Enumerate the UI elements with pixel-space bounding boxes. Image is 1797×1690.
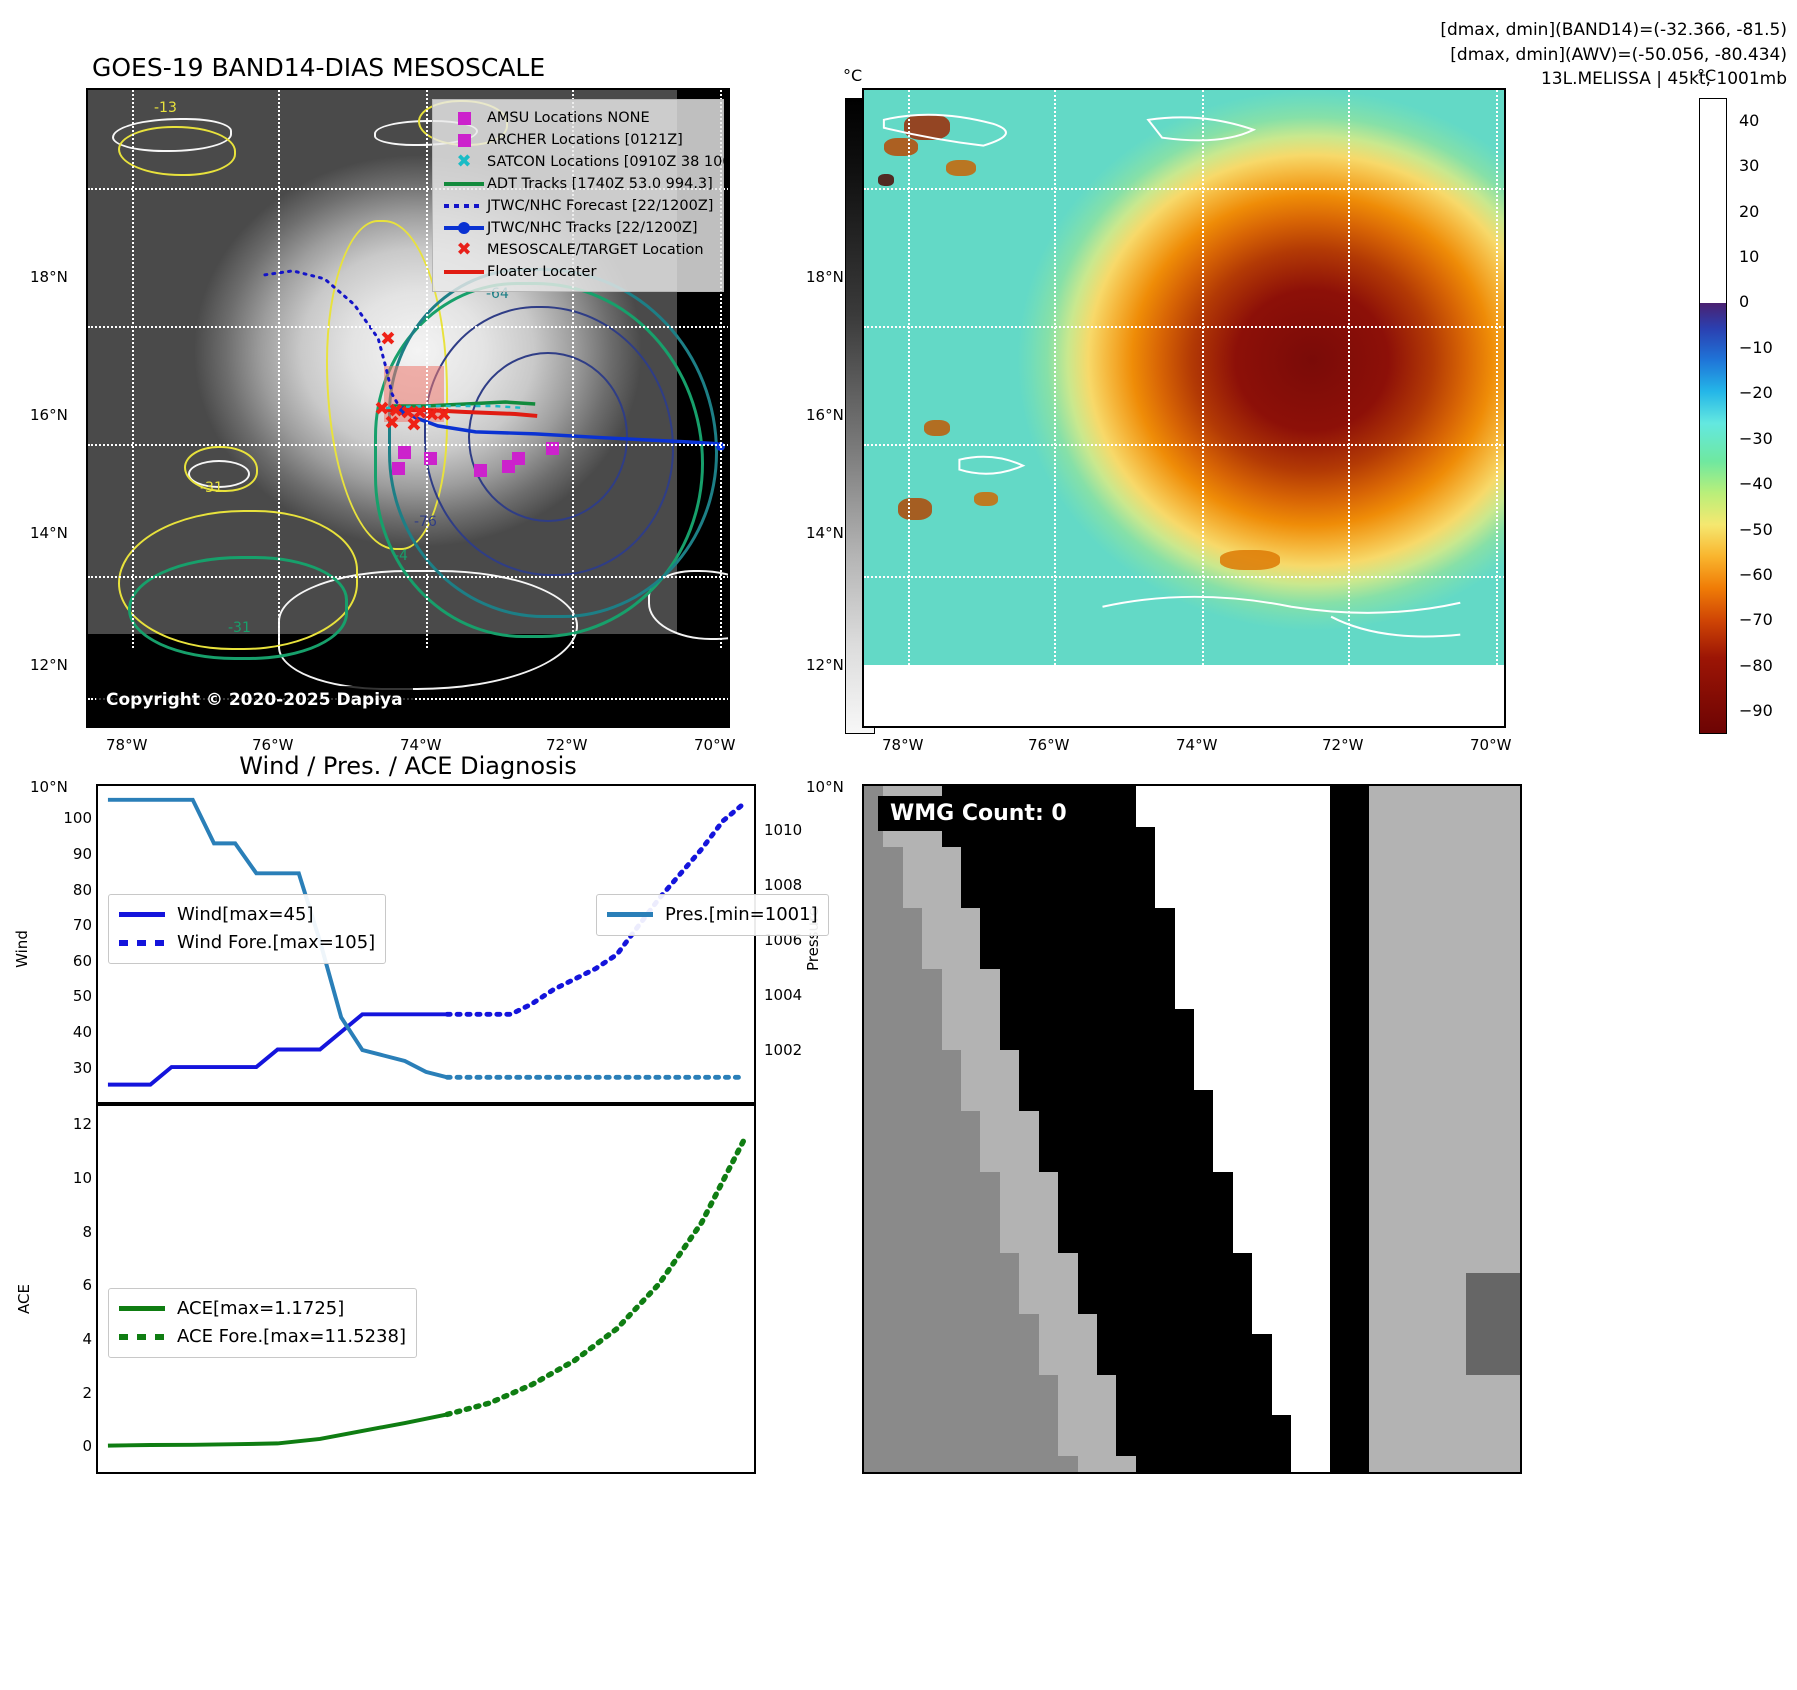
wmg-cell (1485, 1293, 1505, 1314)
wmg-cell (1330, 1253, 1350, 1274)
wmg-cell (1019, 1415, 1039, 1436)
legend-item-mesoscale[interactable]: ✖ MESOSCALE/TARGET Location (441, 239, 715, 261)
wmg-cell (903, 928, 923, 949)
wmg-cell (1466, 1030, 1486, 1051)
wmg-cell (1427, 1293, 1447, 1314)
wmg-cell (1019, 1212, 1039, 1233)
eir-lon-tick-70w: 70°W (1470, 736, 1511, 754)
wmg-cell (883, 1172, 903, 1193)
wmg-cell (1272, 1111, 1292, 1132)
wmg-cell (1233, 1435, 1253, 1456)
legend-item-floater[interactable]: Floater Locater (441, 261, 715, 283)
wmg-cell (1505, 928, 1522, 949)
wmg-cell (1310, 1232, 1330, 1253)
wmg-cell (1310, 1090, 1330, 1111)
eir-lat-tick-16n: 16°N (806, 406, 844, 424)
wmg-cell (942, 1192, 962, 1213)
lat-tick-14n: 14°N (30, 524, 68, 542)
wmg-cell (961, 1334, 981, 1355)
wmg-cell (1291, 1395, 1311, 1416)
wmg-cell (1291, 1131, 1311, 1152)
wmg-cell (1213, 969, 1233, 990)
wmg-cell (1213, 1212, 1233, 1233)
wmg-cell (1466, 1354, 1486, 1375)
wmg-cell (903, 1435, 923, 1456)
wmg-cell (1097, 1273, 1117, 1294)
wmg-cell (1330, 1334, 1350, 1355)
wmg-cell (1019, 1192, 1039, 1213)
wmg-cell (1252, 827, 1272, 848)
legend-item-tracks[interactable]: JTWC/NHC Tracks [22/1200Z] (441, 217, 715, 239)
wmg-cell (1233, 948, 1253, 969)
wmg-cell (1291, 827, 1311, 848)
wmg-cell (1155, 1151, 1175, 1172)
wmg-cell (1427, 1334, 1447, 1355)
wmg-cell (1058, 1273, 1078, 1294)
wmg-cell (1310, 1050, 1330, 1071)
wmg-cell (1252, 847, 1272, 868)
wmg-cell (883, 1375, 903, 1396)
wmg-cell (1155, 786, 1175, 807)
wmg-cell (1388, 1334, 1408, 1355)
wmg-cell (903, 1030, 923, 1051)
wmg-cell (1408, 1030, 1428, 1051)
wmg-cell (1427, 1070, 1447, 1091)
wmg-cell (1466, 1375, 1486, 1396)
wmg-cell (1039, 928, 1059, 949)
wmg-cell (1408, 1151, 1428, 1172)
wmg-cell (1019, 1354, 1039, 1375)
wmg-cell (1000, 1009, 1020, 1030)
wmg-cell (980, 1090, 1000, 1111)
ir-map-canvas[interactable]: ✖ ✖ ✖ ✖ ✖ ✖ ✖ ✖ ✖ -13 -31 -64 -76 -4 -31 (86, 88, 730, 728)
wmg-cell (1097, 1172, 1117, 1193)
wmg-cell (1078, 989, 1098, 1010)
wmg-cell (961, 1212, 981, 1233)
wmg-cell (1446, 1273, 1466, 1294)
wmg-cell (1272, 969, 1292, 990)
wmg-cell (1485, 867, 1505, 888)
wmg-cell (1097, 1151, 1117, 1172)
eir-map-canvas[interactable] (862, 88, 1506, 728)
wmg-cell (1427, 887, 1447, 908)
wmg-cell (1349, 1070, 1369, 1091)
green-solid-line-icon (119, 1306, 165, 1311)
wmg-cell (1252, 1273, 1272, 1294)
wmg-cell (1213, 928, 1233, 949)
wmg-cell (1349, 1253, 1369, 1274)
wmg-cell (1252, 1070, 1272, 1091)
wmg-cell (864, 1334, 884, 1355)
wmg-cell (864, 1395, 884, 1416)
wmg-cell (883, 1395, 903, 1416)
wmg-cell (1369, 1192, 1389, 1213)
wmg-cell (1097, 847, 1117, 868)
wmg-cell (1505, 908, 1522, 929)
wmg-cell (1116, 969, 1136, 990)
ace-tick-label: 4 (58, 1330, 92, 1348)
wmg-cell (1330, 1456, 1350, 1474)
wmg-cell (883, 1354, 903, 1375)
wmg-cell (1136, 1253, 1156, 1274)
wmg-cell (1155, 1212, 1175, 1233)
wmg-cell (1349, 1009, 1369, 1030)
wmg-cell (1019, 1030, 1039, 1051)
wmg-cell (1136, 1435, 1156, 1456)
wmg-panel[interactable]: WMG Count: 0 (862, 784, 1522, 1474)
wmg-cell (1213, 989, 1233, 1010)
wmg-cell (1291, 908, 1311, 929)
wmg-cell (1505, 1435, 1522, 1456)
colorbar-tick-label: 40 (1739, 111, 1759, 130)
wmg-cell (1019, 1009, 1039, 1030)
eir-lat-tick-18n: 18°N (806, 268, 844, 286)
wmg-cell (1039, 1212, 1059, 1233)
wmg-cell (1175, 1212, 1195, 1233)
wmg-cell (1349, 1314, 1369, 1335)
wmg-cell (1291, 1111, 1311, 1132)
wmg-cell (1272, 786, 1292, 807)
wmg-cell (1252, 948, 1272, 969)
wmg-cell (1194, 827, 1214, 848)
wmg-cell (1446, 989, 1466, 1010)
ir-mesoscale-map-panel[interactable]: ✖ ✖ ✖ ✖ ✖ ✖ ✖ ✖ ✖ -13 -31 -64 -76 -4 -31 (86, 88, 730, 728)
wmg-cell (903, 1009, 923, 1030)
wmg-cell (1427, 827, 1447, 848)
wmg-cell (903, 1314, 923, 1335)
wmg-cell (883, 1192, 903, 1213)
wmg-cell (1194, 969, 1214, 990)
wmg-cell (1175, 1273, 1195, 1294)
wmg-cell (1078, 1415, 1098, 1436)
ace-tick-label: 2 (58, 1384, 92, 1402)
wmg-cell (864, 1253, 884, 1274)
wmg-cell (1233, 1334, 1253, 1355)
legend-item-amsu[interactable]: AMSU Locations NONE (441, 107, 715, 129)
colorbar-tick-label: −70 (1739, 610, 1773, 629)
wmg-cell (1330, 1415, 1350, 1436)
legend-label: ARCHER Locations [0121Z] (487, 133, 683, 148)
wmg-cell (1213, 1293, 1233, 1314)
wmg-cell (1485, 1151, 1505, 1172)
wmg-cell (1039, 1192, 1059, 1213)
colorbar-tick-label: −90 (1739, 701, 1773, 720)
wmg-cell (1369, 1273, 1389, 1294)
legend-wind-forecast[interactable]: Wind Fore.[max=105] (119, 929, 375, 957)
wmg-cell (1330, 1314, 1350, 1335)
wmg-cell (1485, 1070, 1505, 1091)
wmg-cell (1194, 1151, 1214, 1172)
wmg-cell (1466, 1314, 1486, 1335)
wmg-cell (1330, 827, 1350, 848)
wmg-cell (864, 1151, 884, 1172)
wmg-cell (1485, 887, 1505, 908)
wmg-cell (1330, 887, 1350, 908)
wmg-cell (1136, 1009, 1156, 1030)
wmg-cell (961, 1009, 981, 1030)
wmg-cell (1233, 1253, 1253, 1274)
wmg-cell (1097, 1253, 1117, 1274)
legend-item-adt[interactable]: ADT Tracks [1740Z 53.0 994.3] (441, 173, 715, 195)
wmg-cell (1019, 1395, 1039, 1416)
wmg-cell (1291, 786, 1311, 807)
wmg-cell (922, 1212, 942, 1233)
wmg-cell (1116, 1131, 1136, 1152)
wmg-cell (903, 1050, 923, 1071)
lat-tick-10n: 10°N (30, 778, 68, 796)
wmg-cell (1078, 1435, 1098, 1456)
wmg-cell (1505, 1192, 1522, 1213)
wmg-cell (1388, 1415, 1408, 1436)
legend-ace-forecast[interactable]: ACE Fore.[max=11.5238] (119, 1323, 406, 1351)
wmg-cell (922, 908, 942, 929)
green-dotted-line-icon (119, 1334, 165, 1340)
wmg-cell (1019, 1090, 1039, 1111)
wmg-cell (1485, 989, 1505, 1010)
mesoscale-target-marker-7: ✖ (436, 406, 452, 425)
wmg-cell (1078, 1111, 1098, 1132)
wmg-cell (1252, 867, 1272, 888)
wmg-cell (1039, 908, 1059, 929)
green-line-icon (441, 182, 487, 186)
wind-tick-label: 90 (58, 845, 92, 863)
wmg-cell (1000, 1070, 1020, 1091)
wmg-cell (1116, 1273, 1136, 1294)
wmg-cell (1175, 827, 1195, 848)
wmg-cell (1388, 1395, 1408, 1416)
wmg-cell (1078, 1232, 1098, 1253)
legend-ace-actual[interactable]: ACE[max=1.1725] (119, 1295, 406, 1323)
enhanced-ir-map-panel[interactable]: 18°N 16°N 14°N 12°N 10°N 78°W 76°W 74°W … (862, 88, 1506, 728)
wmg-cell (1330, 1172, 1350, 1193)
wmg-cell (980, 1111, 1000, 1132)
title-line-1: GOES-19 BAND14-DIAS MESOSCALE (92, 51, 545, 84)
wmg-cell (1213, 887, 1233, 908)
wmg-cell (922, 1415, 942, 1436)
wmg-cell (1485, 1111, 1505, 1132)
wmg-cell (1194, 867, 1214, 888)
wmg-cell (1388, 1212, 1408, 1233)
wmg-cell (961, 1172, 981, 1193)
lat-tick-16n: 16°N (30, 406, 68, 424)
wmg-cell (1000, 1456, 1020, 1474)
wmg-cell (1078, 1456, 1098, 1474)
wmg-cell (1136, 887, 1156, 908)
wmg-cell (1155, 1334, 1175, 1355)
wmg-cell (1097, 1435, 1117, 1456)
wmg-cell (961, 1354, 981, 1375)
wmg-cell (1155, 1232, 1175, 1253)
wmg-cell (883, 1009, 903, 1030)
wmg-cell (1116, 1314, 1136, 1335)
wmg-cell (1505, 1314, 1522, 1335)
wmg-cell (1272, 1090, 1292, 1111)
wmg-cell (1310, 1314, 1330, 1335)
lat-tick-18n: 18°N (30, 268, 68, 286)
wmg-cell (1466, 1212, 1486, 1233)
wmg-cell (942, 1151, 962, 1172)
legend-label: MESOSCALE/TARGET Location (487, 243, 704, 258)
colorbar-tick-label: 0 (1739, 292, 1749, 311)
wmg-cell (1349, 1050, 1369, 1071)
wmg-cell (1369, 1232, 1389, 1253)
wmg-cell (1330, 1090, 1350, 1111)
wmg-cell (1058, 1456, 1078, 1474)
wmg-cell (1039, 847, 1059, 868)
wmg-cell (1194, 1192, 1214, 1213)
wmg-cell (980, 969, 1000, 990)
wmg-cell (1097, 1293, 1117, 1314)
wmg-cell (980, 1131, 1000, 1152)
wmg-cell (1039, 969, 1059, 990)
wmg-cell (922, 1435, 942, 1456)
wmg-cell (1466, 948, 1486, 969)
wmg-cell (1369, 928, 1389, 949)
wmg-cell (1233, 1131, 1253, 1152)
wmg-cell (1466, 1070, 1486, 1091)
wmg-cell (1019, 1232, 1039, 1253)
wmg-cell (1388, 1354, 1408, 1375)
wmg-cell (922, 1273, 942, 1294)
wmg-cell (1155, 1395, 1175, 1416)
wmg-cell (1291, 1456, 1311, 1474)
wmg-cell (1505, 1111, 1522, 1132)
contour-label-4: -4 (394, 548, 408, 564)
wmg-cell (1505, 989, 1522, 1010)
wmg-cell (1213, 1151, 1233, 1172)
colorbar-right (1699, 98, 1727, 734)
ir-map-legend: AMSU Locations NONE ARCHER Locations [01… (432, 99, 724, 292)
archer-location-4 (474, 464, 487, 477)
wmg-cell (1369, 948, 1389, 969)
wmg-cell (1039, 1151, 1059, 1172)
wmg-cell (1330, 786, 1350, 807)
wmg-cell (961, 1415, 981, 1436)
wmg-cell (1175, 1070, 1195, 1091)
wmg-cell (1039, 1375, 1059, 1396)
wmg-cell (1408, 1253, 1428, 1274)
wmg-cell (1252, 1334, 1272, 1355)
wmg-cell (922, 1456, 942, 1474)
wmg-cell (903, 1253, 923, 1274)
wmg-cell (1097, 1050, 1117, 1071)
wmg-cell (961, 969, 981, 990)
wmg-cell (1213, 1131, 1233, 1152)
wmg-cell (1310, 1395, 1330, 1416)
wmg-cell (1349, 786, 1369, 807)
wmg-cell (1039, 1090, 1059, 1111)
wmg-cell (1039, 1253, 1059, 1274)
wmg-cell (1078, 786, 1098, 807)
wmg-cell (1019, 969, 1039, 990)
wmg-cell (1058, 1435, 1078, 1456)
wmg-cell (1349, 1354, 1369, 1375)
legend-item-forecast[interactable]: JTWC/NHC Forecast [22/1200Z] (441, 195, 715, 217)
wmg-cell (1388, 1314, 1408, 1335)
wmg-cell (1136, 1172, 1156, 1193)
wmg-cell (1155, 806, 1175, 827)
wmg-cell (1349, 1435, 1369, 1456)
wmg-cell (961, 1395, 981, 1416)
wmg-cell (1213, 1070, 1233, 1091)
wmg-cell (1155, 969, 1175, 990)
wmg-cell (1330, 1030, 1350, 1051)
wmg-cell (980, 1354, 1000, 1375)
wmg-cell (1427, 1375, 1447, 1396)
wmg-cell (1019, 928, 1039, 949)
colorbar-right-unit: °C (1697, 66, 1716, 85)
wmg-cell (1466, 1456, 1486, 1474)
wmg-cell (864, 887, 884, 908)
wmg-cell (1194, 1212, 1214, 1233)
wmg-cell (1213, 948, 1233, 969)
wmg-cell (942, 1253, 962, 1274)
wmg-cell (1233, 1395, 1253, 1416)
wmg-cell (1213, 1334, 1233, 1355)
wmg-cell (1446, 1009, 1466, 1030)
legend-item-satcon[interactable]: ✖ SATCON Locations [0910Z 38 1001] (441, 151, 715, 173)
wmg-cell (922, 1111, 942, 1132)
legend-wind-actual[interactable]: Wind[max=45] (119, 901, 375, 929)
wmg-cell (903, 1273, 923, 1294)
red-line-icon (441, 270, 487, 274)
wmg-cell (1485, 806, 1505, 827)
wmg-cell (1136, 1050, 1156, 1071)
wmg-cell (1058, 1030, 1078, 1051)
wmg-cell (1349, 1090, 1369, 1111)
wmg-cell (942, 1354, 962, 1375)
wmg-cell (1194, 928, 1214, 949)
wmg-cell (1388, 887, 1408, 908)
wmg-cell (1136, 989, 1156, 1010)
wmg-cell (1446, 1050, 1466, 1071)
wmg-cell (1175, 1415, 1195, 1436)
wmg-cell (1097, 969, 1117, 990)
wmg-cell (980, 1395, 1000, 1416)
wmg-cell (1427, 1212, 1447, 1233)
wmg-cell (1408, 948, 1428, 969)
wmg-cell (883, 1456, 903, 1474)
wmg-cell (1272, 1131, 1292, 1152)
wmg-cell (864, 1435, 884, 1456)
wmg-cell (1291, 1415, 1311, 1436)
wmg-cell (980, 867, 1000, 888)
legend-item-archer[interactable]: ARCHER Locations [0121Z] (441, 129, 715, 151)
wmg-cell (1252, 1050, 1272, 1071)
wmg-cell (864, 1009, 884, 1030)
wmg-cell (1408, 1232, 1428, 1253)
wmg-cell (883, 948, 903, 969)
wmg-cell (1194, 847, 1214, 868)
wmg-cell (864, 1415, 884, 1436)
eir-lon-tick-76w: 76°W (1028, 736, 1069, 754)
wmg-cell (1116, 867, 1136, 888)
wmg-cell (1136, 969, 1156, 990)
wmg-cell (1078, 1172, 1098, 1193)
wmg-cell (1466, 969, 1486, 990)
wmg-cell (1388, 827, 1408, 848)
wmg-cell (1427, 1090, 1447, 1111)
wmg-cell (1466, 1334, 1486, 1355)
wmg-cell (1369, 1172, 1389, 1193)
wind-tick-label: 30 (58, 1059, 92, 1077)
wmg-cell (1427, 948, 1447, 969)
wmg-cell (1078, 1192, 1098, 1213)
wmg-cell (1097, 1111, 1117, 1132)
wmg-cell (942, 1111, 962, 1132)
legend-pressure[interactable]: Pres.[min=1001] (607, 901, 818, 929)
wmg-cell (1233, 806, 1253, 827)
